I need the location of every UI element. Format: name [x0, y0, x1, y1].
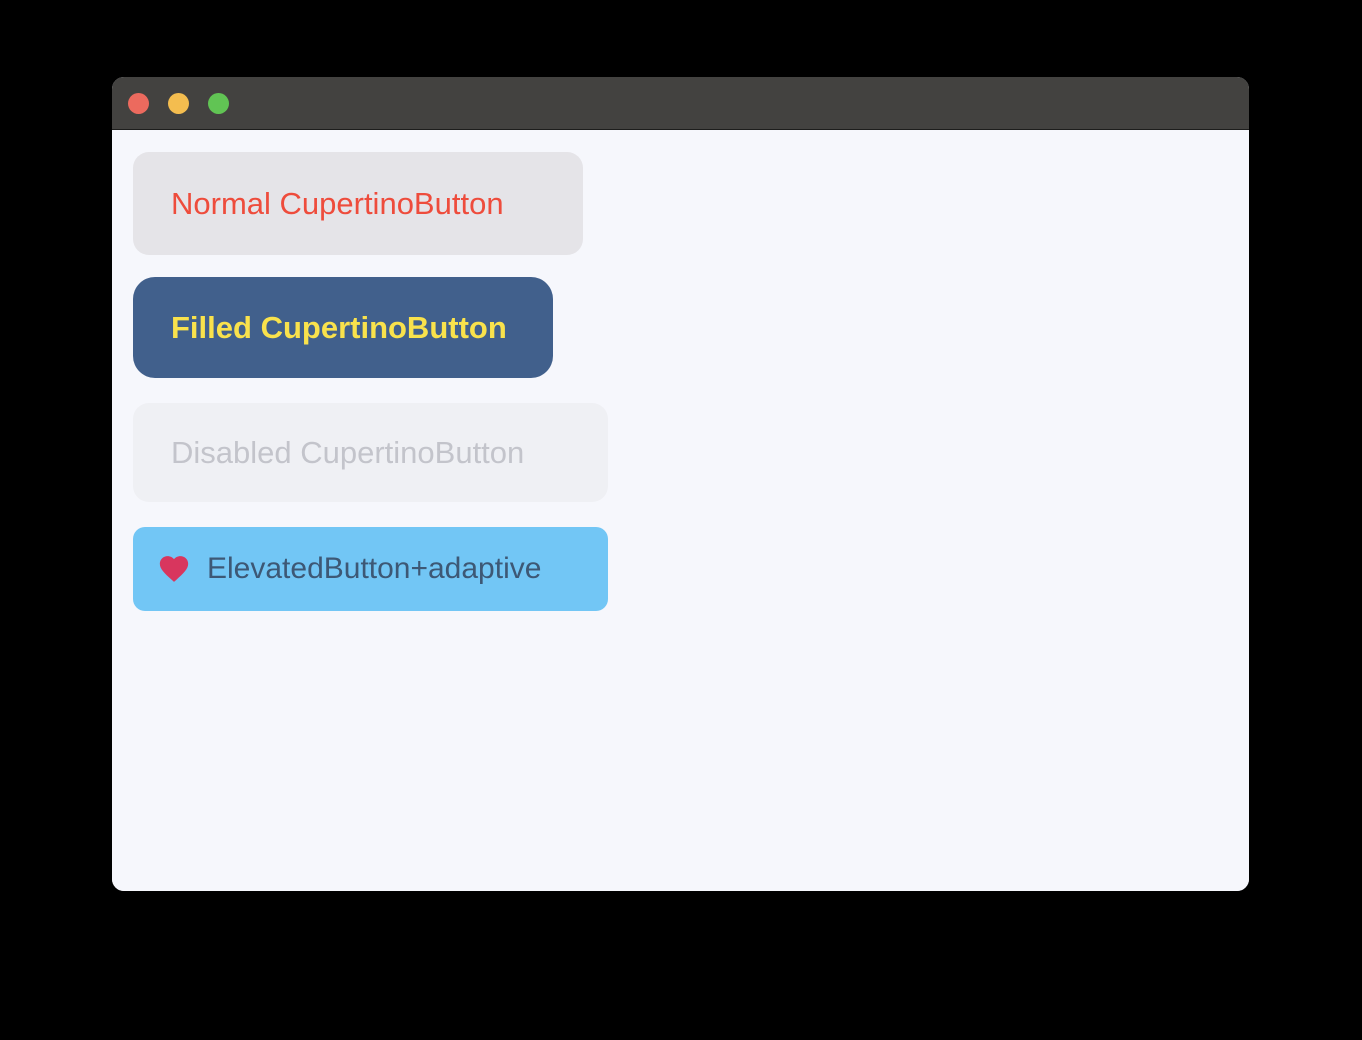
disabled-cupertino-button: Disabled CupertinoButton	[133, 403, 608, 502]
window-title-bar[interactable]	[112, 77, 1249, 130]
elevated-adaptive-button-label: ElevatedButton+adaptive	[207, 552, 541, 586]
elevated-adaptive-button[interactable]: ElevatedButton+adaptive	[133, 527, 608, 611]
app-window: Normal CupertinoButton Filled CupertinoB…	[112, 77, 1249, 891]
normal-cupertino-button-label: Normal CupertinoButton	[171, 186, 504, 222]
traffic-light-group	[128, 93, 229, 114]
content-area: Normal CupertinoButton Filled CupertinoB…	[112, 130, 1249, 891]
elevated-button-row: ElevatedButton+adaptive	[133, 527, 1249, 611]
filled-button-row: Filled CupertinoButton	[133, 277, 1249, 403]
normal-button-row: Normal CupertinoButton	[133, 152, 1249, 277]
disabled-cupertino-button-label: Disabled CupertinoButton	[171, 435, 524, 471]
filled-cupertino-button[interactable]: Filled CupertinoButton	[133, 277, 553, 378]
maximize-window-button[interactable]	[208, 93, 229, 114]
close-window-button[interactable]	[128, 93, 149, 114]
heart-icon	[157, 552, 191, 586]
filled-cupertino-button-label: Filled CupertinoButton	[171, 310, 507, 346]
minimize-window-button[interactable]	[168, 93, 189, 114]
normal-cupertino-button[interactable]: Normal CupertinoButton	[133, 152, 583, 255]
disabled-button-row: Disabled CupertinoButton	[133, 403, 1249, 527]
